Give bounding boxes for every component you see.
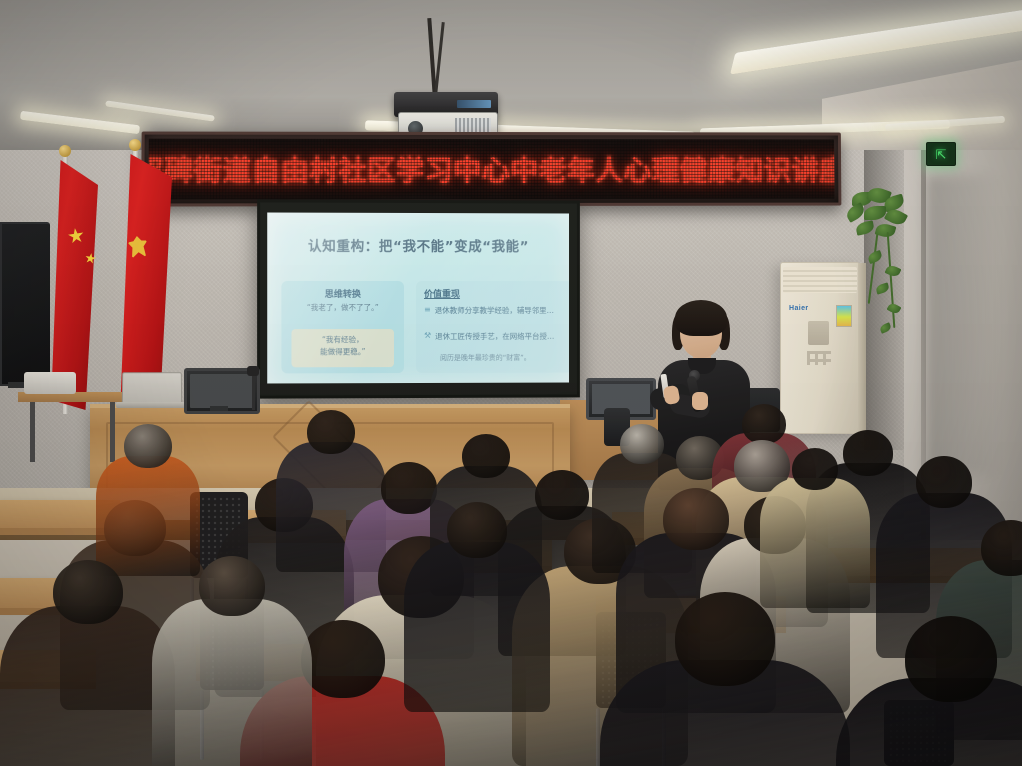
- audience-member-head: [675, 592, 775, 686]
- portable-projector: [24, 372, 76, 394]
- audience-member-torso: [152, 599, 312, 766]
- audience-member-head: [124, 424, 172, 468]
- slide-card-value-renewal: 价值重现 ≡ 退休教师分享教学经验，辅导邻里… ⚒ 退休工匠传授手艺，在网络平台…: [416, 281, 569, 373]
- audience-member: [152, 556, 312, 746]
- audience-member: [760, 448, 870, 578]
- audience-member-head: [199, 556, 265, 616]
- audience-member-head: [916, 456, 972, 508]
- ac-energy-label-icon: [836, 305, 852, 327]
- slide-bullet-1: ≡ 退休教师分享教学经验，辅导邻里…: [424, 305, 569, 316]
- ac-louver-vent: [783, 267, 857, 293]
- exit-running-man-icon: ⇱: [936, 148, 947, 161]
- slide-highlight-box: “我有经验， 能做得更稳。”: [291, 329, 394, 367]
- slide-quote-after-line1: “我有经验，: [296, 335, 390, 345]
- slide-bullet-1-text: 退休教师分享教学经验，辅导邻里…: [435, 305, 554, 316]
- audience-member-head: [447, 502, 507, 558]
- audience-member: [404, 502, 550, 672]
- slide-title: 认知重构：把“我不能”变成“我能”: [267, 235, 569, 256]
- tools-icon: ⚒: [424, 331, 431, 340]
- wall-display: [0, 222, 50, 386]
- audience-member-head: [905, 616, 997, 702]
- audience-member-head: [53, 560, 123, 624]
- slide-footnote: 阅历是晚年最珍贵的“财富”。: [440, 353, 567, 363]
- ac-brand-label: Haier: [789, 305, 809, 312]
- book-icon: ≡: [424, 305, 431, 314]
- podium-mic-stand: [252, 370, 255, 410]
- side-table-leg-left: [30, 402, 35, 462]
- podium-laptop-base: [116, 402, 186, 408]
- slide-quote-before: “我老了，做不了了。”: [285, 303, 400, 313]
- slide-bullet-2: ⚒ 退休工匠传授手艺，在网络平台授…: [424, 331, 569, 342]
- slide-card-right-heading: 价值重现: [424, 287, 569, 300]
- podium-monitor-stand: [210, 406, 228, 411]
- led-banner-text: 双碑街道自由村社区学习中心中老年人心理健康知识讲座: [148, 149, 834, 190]
- audience-member: [96, 424, 200, 544]
- podium-monitor-screen: [190, 374, 254, 408]
- ac-control-panel: [808, 321, 829, 345]
- emergency-exit-sign: ⇱: [926, 142, 956, 166]
- presenter-hair: [675, 300, 727, 336]
- audience-member-head: [301, 620, 385, 698]
- flagpole-finial-icon: [59, 145, 71, 157]
- audience-member-torso: [760, 478, 870, 608]
- slide-card-thinking-shift: 思维转换 “我老了，做不了了。” “我有经验， 能做得更稳。”: [281, 281, 404, 373]
- podium-mic-head-icon: [247, 366, 259, 376]
- projection-screen: 认知重构：把“我不能”变成“我能” 思维转换 “我老了，做不了了。” “我有经验…: [257, 199, 580, 398]
- right-column-shadow: [926, 175, 998, 475]
- flagpole-finial-icon-2: [129, 139, 141, 151]
- audience-member-head: [742, 404, 786, 444]
- lecture-hall-photograph: ⇱ 双碑街道自由村社区学习中心中老年人心理健康知识讲座 认知重构：把“我不能”变…: [0, 0, 1022, 766]
- ac-button-grid: [807, 351, 831, 365]
- audience-member-head: [307, 410, 355, 454]
- audience-member-torso: [0, 606, 175, 766]
- audience-member: [600, 592, 850, 766]
- audience-member-head: [792, 448, 838, 490]
- led-banner: 双碑街道自由村社区学习中心中老年人心理健康知识讲座: [141, 132, 841, 207]
- slide-bullet-2-text: 退休工匠传授手艺，在网络平台授…: [435, 331, 554, 342]
- slide-card-left-heading: 思维转换: [281, 287, 404, 300]
- audience-member-torso: [404, 542, 550, 712]
- wall-recess: [864, 150, 904, 450]
- slide-quote-after-line2: 能做得更稳。”: [296, 347, 390, 357]
- audience-member: [0, 560, 175, 760]
- audience-member: [836, 616, 1022, 766]
- presentation-slide: 认知重构：把“我不能”变成“我能” 思维转换 “我老了，做不了了。” “我有经验…: [267, 212, 569, 383]
- presenter-hand-right: [692, 392, 708, 410]
- ac-side-panel: [858, 263, 866, 433]
- projector-indicator-strip: [457, 100, 491, 108]
- led-banner-screen: 双碑街道自由村社区学习中心中老年人心理健康知识讲座: [148, 139, 834, 200]
